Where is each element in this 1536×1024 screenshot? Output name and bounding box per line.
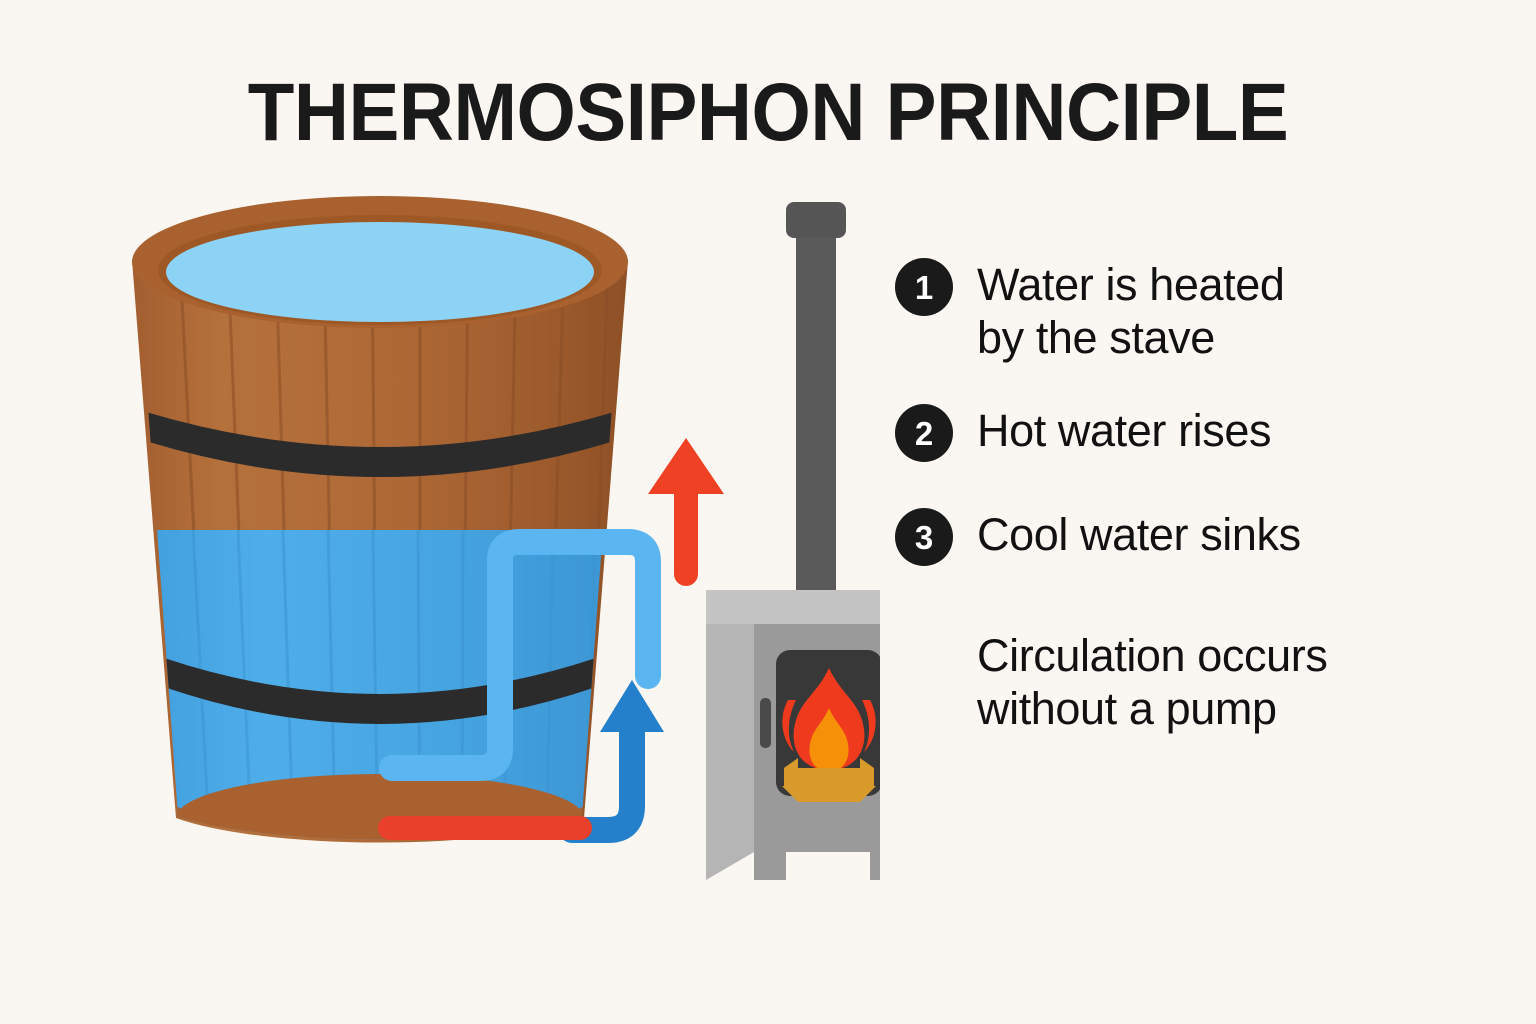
step-badge-3: 3 (895, 508, 953, 566)
tub-water-surface (166, 222, 594, 322)
step-label-3: Cool water sinks (977, 508, 1301, 562)
stove-base-bar (754, 820, 880, 842)
step-label-1: Water is heated by the stave (977, 258, 1284, 364)
steps-legend: 1 Water is heated by the stave 2 Hot wat… (895, 258, 1455, 736)
page-title: THERMOSIPHON PRINCIPLE (54, 66, 1482, 160)
stove-left-face (706, 590, 754, 880)
flow-arrow-icon (600, 680, 664, 732)
legend-step-3: 3 Cool water sinks (895, 508, 1455, 566)
step-badge-2: 2 (895, 404, 953, 462)
step-label-1-line-2: by the stave (977, 312, 1215, 363)
step-label-2-line-1: Hot water rises (977, 405, 1271, 456)
summary-note: Circulation occurs without a pump (977, 630, 1455, 735)
stove-top-strip (706, 590, 880, 624)
stove-chimney-cap (786, 202, 846, 238)
summary-note-line-1: Circulation occurs (977, 630, 1327, 681)
legend-step-2: 2 Hot water rises (895, 404, 1455, 462)
step-label-2: Hot water rises (977, 404, 1271, 458)
infographic-canvas: THERMOSIPHON PRINCIPLE (0, 0, 1536, 1024)
summary-note-line-2: without a pump (977, 683, 1277, 734)
legend-step-1: 1 Water is heated by the stave (895, 258, 1455, 364)
stove-door-handle (760, 698, 771, 748)
wood-stove (706, 202, 880, 880)
thermosiphon-diagram (60, 180, 880, 945)
step-badge-1: 1 (895, 258, 953, 316)
step-label-1-line-1: Water is heated (977, 259, 1284, 310)
step-label-3-line-1: Cool water sinks (977, 509, 1301, 560)
stove-chimney (796, 228, 836, 608)
